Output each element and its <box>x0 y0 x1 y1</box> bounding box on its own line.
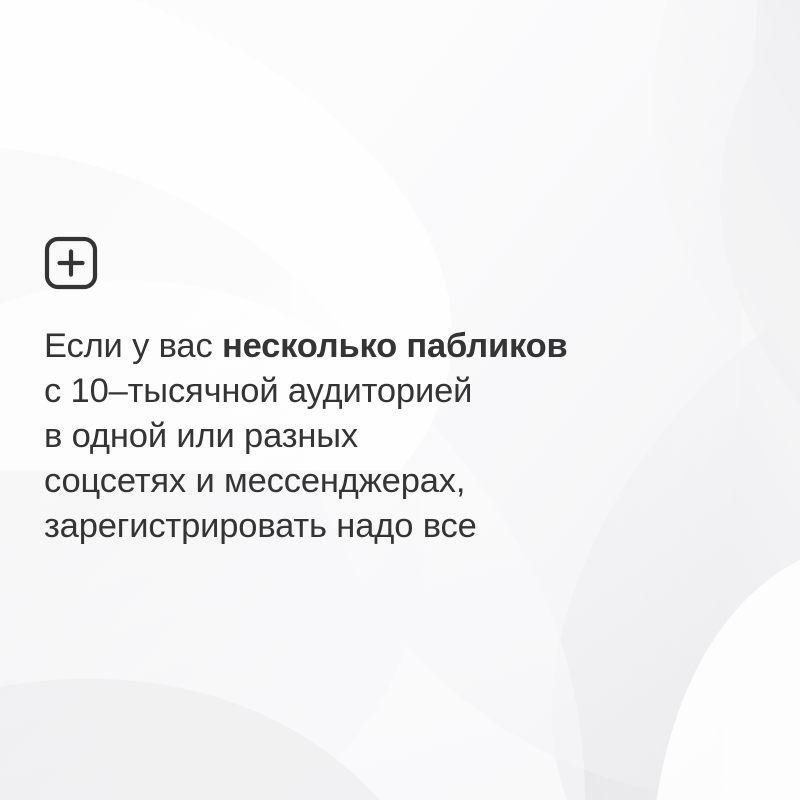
headline-text: Если у вас несколько пабликов с 10–тысяч… <box>44 324 744 549</box>
headline-line-3: в одной или разных <box>44 414 744 459</box>
headline-line-1: Если у вас несколько пабликов <box>44 324 744 369</box>
card-content: Если у вас несколько пабликов с 10–тысяч… <box>44 236 744 549</box>
headline-line-2: с 10–тысячной аудиторией <box>44 369 744 414</box>
headline-line-4: соцсетях и мессенджерах, <box>44 459 744 504</box>
headline-line-1-regular: Если у вас <box>44 327 222 365</box>
headline-line-1-bold: несколько пабликов <box>222 327 567 365</box>
headline-line-5: зарегистрировать надо все <box>44 504 744 549</box>
plus-square-icon <box>44 236 98 290</box>
promo-card: Если у вас несколько пабликов с 10–тысяч… <box>0 0 800 800</box>
